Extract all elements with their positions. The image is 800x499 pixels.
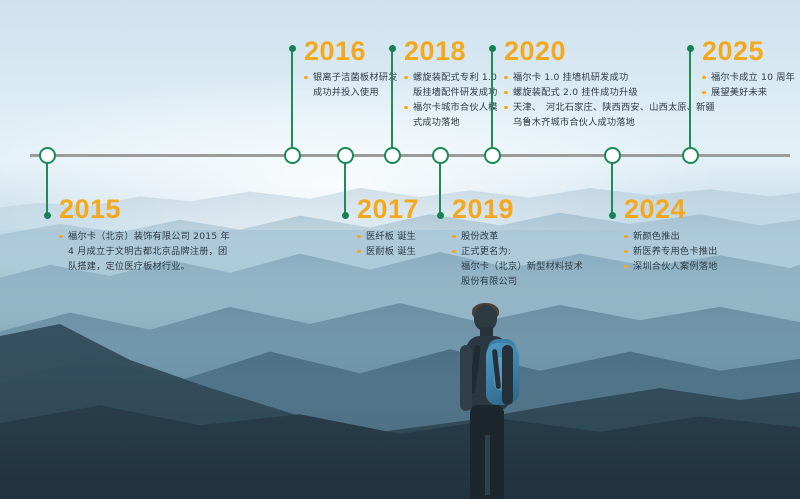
milestone-bullet: 福尔卡（北京）新型材料技术 (452, 259, 583, 274)
timeline-node-2015[interactable] (39, 147, 56, 164)
timeline-connector-2016 (291, 48, 294, 147)
timeline-node-2024[interactable] (604, 147, 621, 164)
milestone-year-2015: 2015 (59, 196, 230, 223)
milestone-bullet-list-2018: 螺旋装配式专利 1.0版挂墙配件研发成功福尔卡城市合伙人模式成功落地 (404, 70, 498, 130)
milestone-bullet-list-2020: 福尔卡 1.0 挂墙机研发成功螺旋装配式 2.0 挂件成功升级天津、 河北石家庄… (504, 70, 715, 130)
milestone-year-2024: 2024 (624, 196, 718, 223)
milestone-bullet: 天津、 河北石家庄、陕西西安、山西太原、新疆 (504, 100, 715, 115)
milestone-block-2020: 2020福尔卡 1.0 挂墙机研发成功螺旋装配式 2.0 挂件成功升级天津、 河… (504, 38, 715, 130)
milestone-year-2020: 2020 (504, 38, 715, 65)
milestone-bullet: 股份有限公司 (452, 274, 583, 289)
milestone-bullet-list-2017: 医纤板 诞生医耐板 诞生 (357, 229, 419, 259)
milestone-year-2016: 2016 (304, 38, 398, 65)
hiker-arm-left (460, 345, 472, 411)
timeline-stem-dot-2024 (609, 212, 616, 219)
milestone-bullet: 展望美好未来 (702, 85, 795, 100)
milestone-block-2017: 2017医纤板 诞生医耐板 诞生 (357, 196, 419, 259)
milestone-block-2025: 2025福尔卡成立 10 周年展望美好未来 (702, 38, 795, 100)
milestone-bullet: 股份改革 (452, 229, 583, 244)
milestone-bullet: 银离子洁菌板材研发 (304, 70, 398, 85)
timeline-stem-dot-2025 (687, 45, 694, 52)
milestone-bullet: 队搭建，定位医疗板材行业。 (59, 259, 230, 274)
milestone-bullet: 新医养专用色卡推出 (624, 244, 718, 259)
milestone-block-2016: 2016银离子洁菌板材研发成功并投入使用 (304, 38, 398, 100)
timeline-connector-2018 (391, 48, 394, 147)
milestone-block-2019: 2019股份改革正式更名为:福尔卡（北京）新型材料技术股份有限公司 (452, 196, 583, 289)
timeline-stem-dot-2016 (289, 45, 296, 52)
timeline-node-2019[interactable] (432, 147, 449, 164)
milestone-bullet: 螺旋装配式专利 1.0 (404, 70, 498, 85)
milestone-block-2015: 2015福尔卡（北京）装饰有限公司 2015 年4 月成立于文明古都北京品牌注册… (59, 196, 230, 274)
timeline-stem-dot-2020 (489, 45, 496, 52)
milestone-bullet: 福尔卡城市合伙人模 (404, 100, 498, 115)
milestone-bullet: 乌鲁木齐城市合伙人成功落地 (504, 115, 715, 130)
timeline-connector-2017 (344, 163, 347, 215)
milestone-bullet-list-2016: 银离子洁菌板材研发成功并投入使用 (304, 70, 398, 100)
milestone-year-2025: 2025 (702, 38, 795, 65)
milestone-block-2018: 2018螺旋装配式专利 1.0版挂墙配件研发成功福尔卡城市合伙人模式成功落地 (404, 38, 498, 130)
timeline-stem-dot-2017 (342, 212, 349, 219)
milestone-bullet-list-2015: 福尔卡（北京）装饰有限公司 2015 年4 月成立于文明古都北京品牌注册，团队搭… (59, 229, 230, 274)
milestone-bullet-list-2024: 新颜色推出新医养专用色卡推出深圳合伙人案例落地 (624, 229, 718, 274)
timeline-connector-2025 (689, 48, 692, 147)
timeline-connector-2015 (46, 163, 49, 215)
milestone-bullet: 版挂墙配件研发成功 (404, 85, 498, 100)
timeline-node-2017[interactable] (337, 147, 354, 164)
milestone-bullet: 式成功落地 (404, 115, 498, 130)
timeline-stem-dot-2018 (389, 45, 396, 52)
milestone-bullet: 福尔卡（北京）装饰有限公司 2015 年 (59, 229, 230, 244)
milestone-bullet: 正式更名为: (452, 244, 583, 259)
hiker-arm-right (502, 345, 513, 405)
timeline-infographic: 2015福尔卡（北京）装饰有限公司 2015 年4 月成立于文明古都北京品牌注册… (0, 0, 800, 499)
timeline-stem-dot-2015 (44, 212, 51, 219)
timeline-connector-2020 (491, 48, 494, 147)
hiker-silhouette (448, 305, 538, 499)
timeline-connector-2024 (611, 163, 614, 215)
milestone-bullet: 4 月成立于文明古都北京品牌注册，团 (59, 244, 230, 259)
timeline-connector-2019 (439, 163, 442, 215)
milestone-bullet-list-2025: 福尔卡成立 10 周年展望美好未来 (702, 70, 795, 100)
milestone-bullet: 新颜色推出 (624, 229, 718, 244)
timeline-stem-dot-2019 (437, 212, 444, 219)
milestone-year-2017: 2017 (357, 196, 419, 223)
milestone-bullet: 福尔卡成立 10 周年 (702, 70, 795, 85)
timeline-axis (30, 154, 790, 157)
milestone-block-2024: 2024新颜色推出新医养专用色卡推出深圳合伙人案例落地 (624, 196, 718, 274)
milestone-bullet: 深圳合伙人案例落地 (624, 259, 718, 274)
timeline-node-2020[interactable] (484, 147, 501, 164)
hiker-leg-gap (485, 435, 490, 495)
milestone-year-2019: 2019 (452, 196, 583, 223)
milestone-bullet: 福尔卡 1.0 挂墙机研发成功 (504, 70, 715, 85)
milestone-bullet: 医纤板 诞生 (357, 229, 419, 244)
milestone-bullet: 螺旋装配式 2.0 挂件成功升级 (504, 85, 715, 100)
milestone-bullet-list-2019: 股份改革正式更名为:福尔卡（北京）新型材料技术股份有限公司 (452, 229, 583, 289)
timeline-node-2025[interactable] (682, 147, 699, 164)
timeline-node-2016[interactable] (284, 147, 301, 164)
milestone-bullet: 成功并投入使用 (304, 85, 398, 100)
milestone-year-2018: 2018 (404, 38, 498, 65)
timeline-node-2018[interactable] (384, 147, 401, 164)
milestone-bullet: 医耐板 诞生 (357, 244, 419, 259)
